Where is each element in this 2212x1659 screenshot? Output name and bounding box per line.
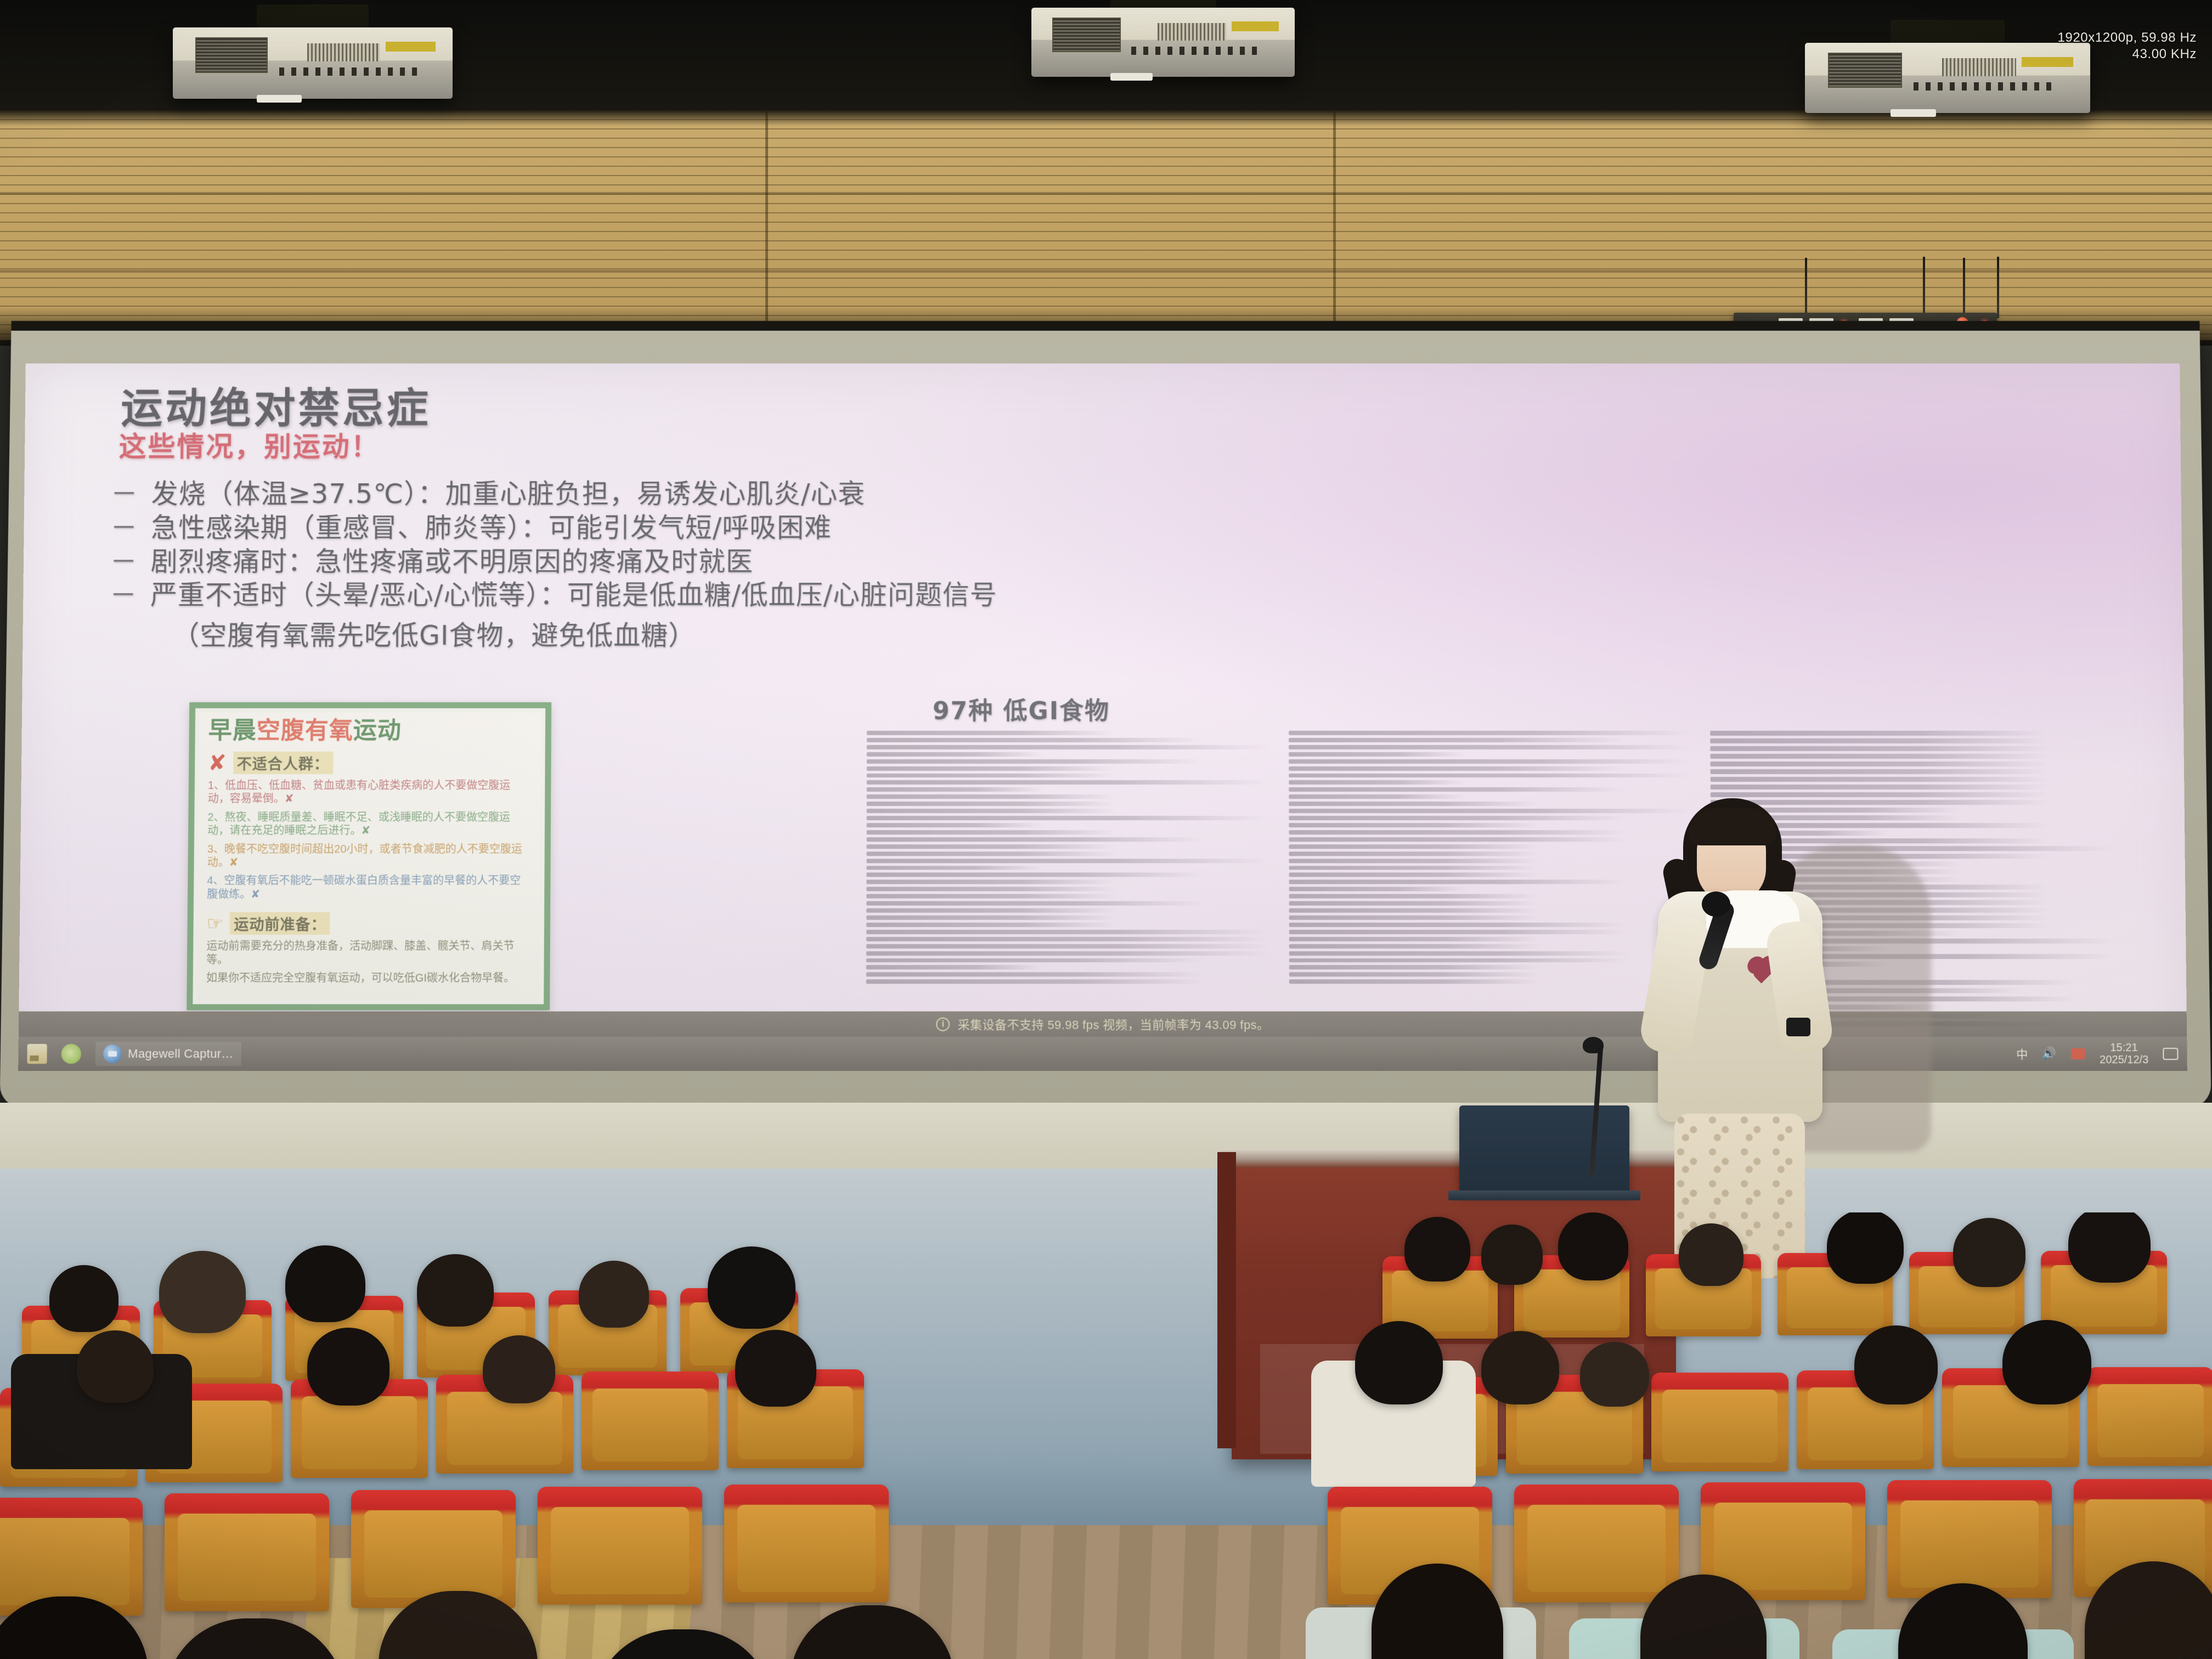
auditorium-seat <box>351 1490 516 1608</box>
card-title-part: 空腹有氧 <box>257 717 353 744</box>
projector-body <box>173 27 453 99</box>
presenter-laptop[interactable] <box>1459 1105 1629 1193</box>
audience-head <box>790 1605 955 1659</box>
card-section-header: ✘ 不适合人群： <box>208 752 532 774</box>
speaker-icon[interactable]: 🔊 <box>2042 1047 2056 1060</box>
ceiling-projector-right <box>1805 43 2090 113</box>
x-mark-icon: ✘ <box>208 752 227 774</box>
projector-ports <box>279 67 419 76</box>
audience-head <box>1827 1212 1904 1284</box>
projector-ports <box>1131 47 1263 55</box>
auditorium-seat <box>1514 1485 1679 1602</box>
audience-head <box>159 1251 246 1333</box>
auditorium-seat <box>538 1487 702 1605</box>
presenter-bangs <box>1689 808 1776 845</box>
projector-mount <box>1891 20 2005 45</box>
antenna-icon <box>1963 258 1965 318</box>
fasted-cardio-card: 早晨空腹有氧运动 ✘ 不适合人群： 1、低血压、低血糖、贫血或患有心脏类疾病的人… <box>187 702 551 1010</box>
audience-head <box>417 1254 494 1327</box>
audience <box>0 1212 2212 1659</box>
audience-head <box>1404 1217 1470 1282</box>
start-menu-icon[interactable] <box>27 1044 47 1064</box>
magewell-capture-icon <box>103 1045 122 1063</box>
red-badge-icon[interactable] <box>2071 1048 2085 1059</box>
laptop-base <box>1448 1190 1640 1200</box>
bullet-dash-icon: － <box>110 546 150 578</box>
projector-ports <box>1914 82 2056 91</box>
audience-head <box>1679 1223 1743 1286</box>
gi-food-list-title: 97种 低GI食物 <box>933 691 1110 726</box>
projector-grille <box>1158 23 1226 41</box>
wall-seam <box>765 110 768 340</box>
slide-title: 运动绝对禁忌症 <box>121 388 431 430</box>
audience-head <box>307 1328 390 1406</box>
audience-head <box>49 1265 119 1332</box>
notification-icon[interactable] <box>2163 1048 2178 1060</box>
audience-head <box>592 1629 774 1659</box>
card-item: 3、晚餐不吃空腹时间超出20小时，或者节食减肥的人不要空腹运动。✘ <box>207 843 532 870</box>
taskbar-tray: 中 🔊 15:21 2025/12/3 <box>2016 1041 2179 1066</box>
projector-lens <box>1891 109 1936 117</box>
bullet-line: － 剧烈疼痛时：急性疼痛或不明原因的疼痛及时就医 <box>110 546 2055 578</box>
projector-body <box>1805 43 2090 113</box>
projector-vent <box>195 37 268 73</box>
wall-band <box>0 192 2212 195</box>
bullet-dash-icon: － <box>110 513 151 544</box>
antenna-icon <box>1923 257 1925 318</box>
auditorium-seat <box>1887 1480 2052 1598</box>
audience-head <box>483 1335 555 1403</box>
audience-head <box>1355 1321 1443 1404</box>
projector-osd: 1920x1200p, 59.98 Hz 43.00 KHz <box>2057 30 2197 63</box>
card-section-header: ☞ 运动前准备： <box>207 912 531 935</box>
bullet-text: 急性感染期（重感冒、肺炎等）：可能引发气短/呼吸困难 <box>151 513 2055 544</box>
ime-indicator[interactable]: 中 <box>2016 1046 2028 1062</box>
card-section-label: 不适合人群： <box>233 752 333 774</box>
osd-resolution: 1920x1200p, 59.98 Hz <box>2057 30 2197 46</box>
bullet-text: 剧烈疼痛时：急性疼痛或不明原因的疼痛及时就医 <box>150 546 2055 578</box>
info-circle-icon: i <box>936 1017 950 1031</box>
audience-head <box>1558 1212 1628 1280</box>
taskbar-clock[interactable]: 15:21 2025/12/3 <box>2100 1041 2149 1066</box>
bullet-line: － 严重不适时（头晕/恶心/心慌等）：可能是低血糖/低血压/心脏问题信号 <box>110 580 2055 612</box>
projector-vent <box>1052 18 1121 52</box>
edge-browser-icon[interactable] <box>61 1044 81 1064</box>
card-section-label: 运动前准备： <box>230 912 330 935</box>
taskbar-left-group: Magewell Captur… <box>27 1042 241 1066</box>
lecture-hall-photo: 运动绝对禁忌症 这些情况，别运动！ － 发烧（体温≥37.5℃）：加重心脏负担，… <box>0 0 2212 1659</box>
audience-head <box>1481 1224 1543 1285</box>
card-item: 运动前需要充分的热身准备，活动脚踝、膝盖、髋关节、肩关节等。 <box>206 940 531 967</box>
bullet-line: － 发烧（体温≥37.5℃）：加重心脏负担，易诱发心肌炎/心衰 <box>111 479 2055 510</box>
osd-frequency: 43.00 KHz <box>2057 46 2197 63</box>
projector-label <box>1232 21 1279 31</box>
pointing-hand-icon: ☞ <box>207 914 224 933</box>
card-title-part: 运动 <box>353 717 402 744</box>
projector-grille <box>1942 58 2016 76</box>
projector-label <box>386 42 436 52</box>
audience-head <box>579 1261 649 1328</box>
gi-food-column <box>866 731 1269 984</box>
projector-lens <box>257 95 302 103</box>
presentation-clicker <box>1786 1018 1810 1036</box>
projector-grille <box>307 43 380 62</box>
audience-head <box>77 1330 154 1403</box>
projector-body <box>1031 8 1295 77</box>
bullet-line: － 急性感染期（重感冒、肺炎等）：可能引发气短/呼吸困难 <box>110 513 2055 544</box>
card-item: 如果你不适应完全空腹有氧运动，可以吃低GI碳水化合物早餐。 <box>206 972 531 985</box>
audience-head <box>2002 1320 2091 1404</box>
slide-bullet-list: － 发烧（体温≥37.5℃）：加重心脏负担，易诱发心肌炎/心衰 － 急性感染期（… <box>109 479 2056 653</box>
taskbar-app-label: Magewell Captur… <box>128 1047 234 1061</box>
projector-lens <box>1110 73 1153 81</box>
audience-head <box>2068 1212 2151 1283</box>
audience-head <box>165 1618 346 1659</box>
card-title: 早晨空腹有氧运动 <box>208 719 532 743</box>
antenna-icon <box>1997 257 1999 318</box>
card-item: 2、熬夜、睡眠质量差、睡眠不足、或浅睡眠的人不要做空腹运动，请在充足的睡眠之后进… <box>207 811 532 838</box>
bullet-dash-icon: － <box>110 580 150 612</box>
card-inner: 早晨空腹有氧运动 ✘ 不适合人群： 1、低血压、低血糖、贫血或患有心脏类疾病的人… <box>197 713 541 1000</box>
bullet-dash-icon: － <box>111 479 151 510</box>
bullet-text: 发烧（体温≥37.5℃）：加重心脏负担，易诱发心肌炎/心衰 <box>151 479 2055 510</box>
microphone-head <box>1702 891 1730 917</box>
auditorium-seat <box>724 1485 889 1602</box>
card-item: 4、空腹有氧后不能吃一顿碳水蛋白质含量丰富的早餐的人不要空腹做练。✘ <box>207 874 531 901</box>
capture-warning-text: 采集设备不支持 59.98 fps 视频，当前帧率为 43.09 fps。 <box>958 1015 1269 1033</box>
audience-head <box>285 1245 365 1322</box>
ceiling-projector-center <box>1031 8 1295 77</box>
auditorium-seat <box>165 1493 329 1611</box>
audience-head <box>708 1246 795 1329</box>
bullet-continuation-line: （空腹有氧需先吃低GI食物，避免低血糖） <box>172 614 2056 653</box>
audience-head <box>1481 1331 1559 1404</box>
front-wall-panel <box>0 110 2212 340</box>
auditorium-seat <box>582 1372 719 1470</box>
card-title-part: 早晨 <box>208 717 257 744</box>
slide-subtitle: 这些情况，别运动！ <box>119 433 380 460</box>
card-item: 1、低血压、低血糖、贫血或患有心脏类疾病的人不要做空腹运动，容易晕倒。✘ <box>208 779 532 806</box>
bullet-text: 严重不适时（头晕/恶心/心慌等）：可能是低血糖/低血压/心脏问题信号 <box>150 580 2055 612</box>
auditorium-seat <box>2087 1367 2212 1466</box>
presenter <box>1624 798 1854 1276</box>
taskbar-app-magewell[interactable]: Magewell Captur… <box>95 1042 241 1066</box>
clock-time: 15:21 <box>2100 1041 2148 1054</box>
auditorium-seat <box>1651 1373 1788 1471</box>
clock-date: 2025/12/3 <box>2100 1054 2149 1066</box>
antenna-icon <box>1805 258 1807 318</box>
projector-vent <box>1828 53 1902 88</box>
ceiling-projector-left <box>173 27 453 99</box>
wall-seam <box>1333 110 1336 340</box>
audience-head <box>1854 1325 1938 1404</box>
audience-head <box>1580 1342 1649 1407</box>
wall-band <box>0 270 2212 273</box>
audience-head <box>1953 1218 2025 1287</box>
projector-mount <box>257 4 369 30</box>
audience-head <box>735 1330 816 1407</box>
